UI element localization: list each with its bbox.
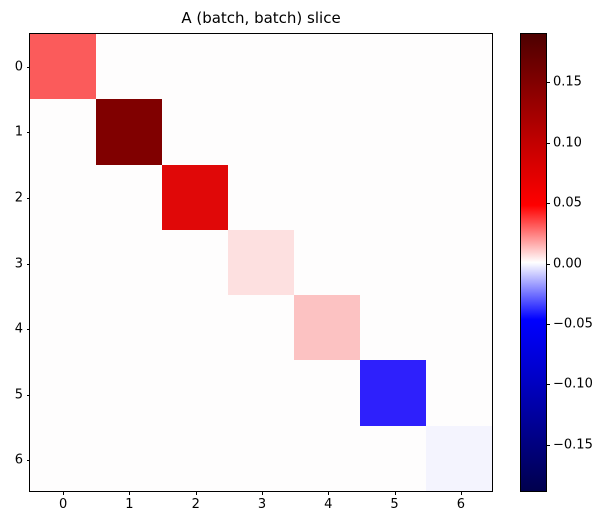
colorbar-tick-mark bbox=[546, 203, 550, 204]
heatmap-cell bbox=[294, 99, 360, 164]
heatmap-cell bbox=[426, 230, 492, 295]
y-tick-label: 0 bbox=[15, 60, 23, 73]
colorbar-tick-label: 0.10 bbox=[553, 136, 582, 149]
x-tick-mark bbox=[262, 491, 263, 495]
heatmap-cell bbox=[228, 426, 294, 491]
heatmap-cell bbox=[162, 165, 228, 230]
x-tick-label: 5 bbox=[390, 498, 398, 511]
heatmap-cell bbox=[228, 165, 294, 230]
heatmap-cell bbox=[360, 360, 426, 425]
y-tick-mark bbox=[27, 264, 31, 265]
heatmap-cell bbox=[294, 165, 360, 230]
heatmap-grid bbox=[30, 34, 492, 491]
x-tick-label: 4 bbox=[324, 498, 332, 511]
y-tick-label: 5 bbox=[15, 388, 23, 401]
y-tick-label: 3 bbox=[15, 257, 23, 270]
colorbar-tick-mark bbox=[546, 264, 550, 265]
colorbar-tick-label: 0.15 bbox=[553, 76, 582, 89]
heatmap-cell bbox=[228, 34, 294, 99]
heatmap-cell bbox=[294, 295, 360, 360]
y-tick-label: 2 bbox=[15, 191, 23, 204]
heatmap-cell bbox=[30, 165, 96, 230]
colorbar-tick-mark bbox=[546, 82, 550, 83]
x-tick-mark bbox=[63, 491, 64, 495]
heatmap-cell bbox=[96, 99, 162, 164]
heatmap-cell bbox=[228, 99, 294, 164]
heatmap-cell bbox=[228, 230, 294, 295]
heatmap-cell bbox=[426, 99, 492, 164]
y-tick-label: 6 bbox=[15, 454, 23, 467]
y-tick-mark bbox=[27, 329, 31, 330]
heatmap-cell bbox=[96, 360, 162, 425]
heatmap-cell bbox=[360, 295, 426, 360]
heatmap-cell bbox=[30, 34, 96, 99]
x-tick-mark bbox=[328, 491, 329, 495]
y-tick-label: 4 bbox=[15, 323, 23, 336]
y-tick-mark bbox=[27, 132, 31, 133]
colorbar-tick-label: −0.10 bbox=[553, 378, 593, 391]
heatmap-cell bbox=[228, 360, 294, 425]
heatmap-cell bbox=[360, 230, 426, 295]
heatmap-cell bbox=[30, 360, 96, 425]
heatmap-cell bbox=[96, 295, 162, 360]
colorbar-tick-label: −0.15 bbox=[553, 438, 593, 451]
x-tick-mark bbox=[461, 491, 462, 495]
x-tick-label: 1 bbox=[125, 498, 133, 511]
heatmap-cell bbox=[426, 295, 492, 360]
y-tick-mark bbox=[27, 67, 31, 68]
heatmap-cell bbox=[162, 230, 228, 295]
colorbar-tick-mark bbox=[546, 384, 550, 385]
y-tick-label: 1 bbox=[15, 126, 23, 139]
matplotlib-figure: A (batch, batch) slice 0123456 0123456 0… bbox=[0, 0, 606, 528]
colorbar-tick-label: −0.05 bbox=[553, 317, 593, 330]
colorbar-tick-label: 0.05 bbox=[553, 197, 582, 210]
heatmap-cell bbox=[426, 165, 492, 230]
y-tick-mark bbox=[27, 395, 31, 396]
heatmap-cell bbox=[294, 360, 360, 425]
heatmap-cell bbox=[96, 230, 162, 295]
heatmap-cell bbox=[294, 426, 360, 491]
colorbar-tick-mark bbox=[546, 324, 550, 325]
heatmap-cell bbox=[162, 34, 228, 99]
colorbar-tick-mark bbox=[546, 445, 550, 446]
x-tick-label: 2 bbox=[192, 498, 200, 511]
heatmap-cell bbox=[162, 360, 228, 425]
x-tick-mark bbox=[395, 491, 396, 495]
heatmap-cell bbox=[426, 360, 492, 425]
x-tick-label: 3 bbox=[258, 498, 266, 511]
heatmap-cell bbox=[96, 165, 162, 230]
heatmap-cell bbox=[360, 426, 426, 491]
heatmap-cell bbox=[30, 230, 96, 295]
heatmap-cell bbox=[228, 295, 294, 360]
heatmap-cell bbox=[360, 165, 426, 230]
heatmap-cell bbox=[162, 426, 228, 491]
colorbar-tick-mark bbox=[546, 143, 550, 144]
heatmap-cell bbox=[426, 34, 492, 99]
colorbar: 0.150.100.050.00−0.05−0.10−0.15 bbox=[520, 33, 547, 492]
y-tick-mark bbox=[27, 460, 31, 461]
heatmap-cell bbox=[360, 99, 426, 164]
heatmap-axes: 0123456 0123456 bbox=[29, 33, 493, 492]
heatmap-cell bbox=[96, 34, 162, 99]
page-title: A (batch, batch) slice bbox=[29, 9, 493, 27]
heatmap-cell bbox=[360, 34, 426, 99]
heatmap-cell bbox=[294, 230, 360, 295]
heatmap-cell bbox=[162, 99, 228, 164]
heatmap-cell bbox=[426, 426, 492, 491]
heatmap-cell bbox=[30, 99, 96, 164]
x-tick-mark bbox=[129, 491, 130, 495]
heatmap-cell bbox=[30, 295, 96, 360]
heatmap-cell bbox=[30, 426, 96, 491]
heatmap-cell bbox=[96, 426, 162, 491]
y-tick-mark bbox=[27, 198, 31, 199]
x-tick-label: 6 bbox=[457, 498, 465, 511]
colorbar-gradient bbox=[521, 34, 546, 491]
heatmap-cell bbox=[162, 295, 228, 360]
heatmap-cell bbox=[294, 34, 360, 99]
x-tick-label: 0 bbox=[59, 498, 67, 511]
x-tick-mark bbox=[196, 491, 197, 495]
colorbar-tick-label: 0.00 bbox=[553, 257, 582, 270]
